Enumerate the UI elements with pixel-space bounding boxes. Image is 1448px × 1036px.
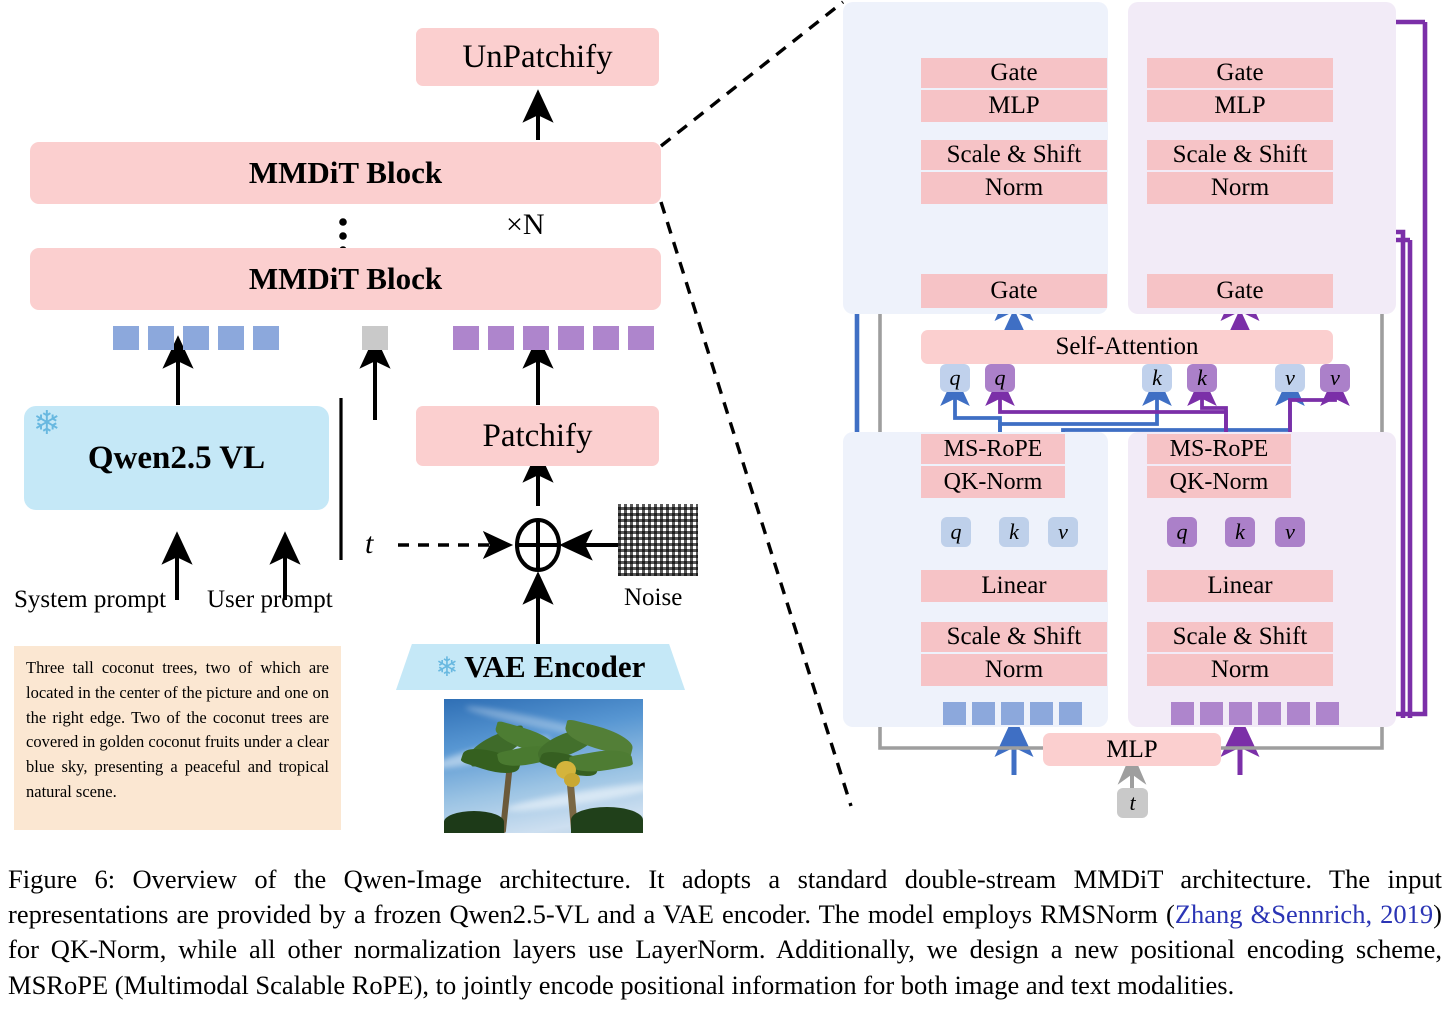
image-gate-attn[interactable]: Gate	[1147, 274, 1333, 308]
figure-canvas: UnPatchify MMDiT Block ×N MMDiT Block Qw…	[0, 0, 1448, 1036]
text-token	[113, 326, 139, 350]
system-prompt-label: System prompt	[14, 586, 166, 614]
user-prompt-label: User prompt	[207, 586, 333, 614]
text-v-chip: v	[1048, 517, 1078, 547]
snowflake-icon-qwen: ❄	[33, 408, 61, 441]
unpatchify-label: UnPatchify	[462, 39, 612, 76]
image-qk-norm[interactable]: QK-Norm	[1147, 466, 1291, 498]
image-token	[1258, 702, 1281, 725]
text-token	[943, 702, 966, 725]
image-token	[523, 326, 549, 350]
text-qk-norm[interactable]: QK-Norm	[921, 466, 1065, 498]
text-ms-rope[interactable]: MS-RoPE	[921, 434, 1065, 464]
image-token	[1316, 702, 1339, 725]
noise-patch-icon	[618, 504, 698, 576]
text-token	[972, 702, 995, 725]
image-token	[558, 326, 584, 350]
image-scale-shift-attn[interactable]: Scale & Shift	[1147, 622, 1333, 652]
joint-q-text-chip: q	[940, 364, 970, 392]
joint-v-image-chip: v	[1320, 364, 1350, 392]
text-token	[1059, 702, 1082, 725]
unpatchify-box[interactable]: UnPatchify	[416, 28, 659, 86]
image-linear[interactable]: Linear	[1147, 570, 1333, 602]
joint-q-image-chip: q	[985, 364, 1015, 392]
image-gate-mlp[interactable]: Gate	[1147, 58, 1333, 88]
timestep-chip: t	[1117, 788, 1148, 818]
patchify-box[interactable]: Patchify	[416, 406, 659, 466]
repeat-n-label: ×N	[506, 208, 545, 242]
qwen25-vl-box[interactable]: Qwen2.5 VL	[24, 406, 329, 510]
image-token	[1171, 702, 1194, 725]
joint-k-text-chip: k	[1142, 364, 1172, 392]
image-ms-rope[interactable]: MS-RoPE	[1147, 434, 1291, 464]
image-k-chip: k	[1225, 517, 1255, 547]
mmdit-block-bottom[interactable]: MMDiT Block	[30, 248, 661, 310]
text-gate-attn[interactable]: Gate	[921, 274, 1107, 308]
qwen-vl-label: Qwen2.5 VL	[88, 440, 265, 477]
text-token	[218, 326, 244, 350]
joint-k-image-chip: k	[1187, 364, 1217, 392]
text-q-chip: q	[941, 517, 971, 547]
image-token	[453, 326, 479, 350]
noise-label: Noise	[624, 584, 682, 612]
input-image-thumbnail	[444, 699, 643, 833]
caption-prefix: Figure 6:	[8, 864, 115, 894]
figure-caption: Figure 6: Overview of the Qwen-Image arc…	[8, 862, 1442, 1003]
text-norm-attn[interactable]: Norm	[921, 654, 1107, 686]
joint-v-text-chip: v	[1275, 364, 1305, 392]
patchify-label: Patchify	[483, 418, 593, 455]
image-token	[1287, 702, 1310, 725]
image-token	[488, 326, 514, 350]
text-mlp[interactable]: MLP	[921, 90, 1107, 122]
self-attention-box[interactable]: Self-Attention	[921, 330, 1333, 364]
image-token	[593, 326, 619, 350]
text-token	[148, 326, 174, 350]
vae-encoder-box[interactable]: ❄ VAE Encoder	[396, 644, 685, 690]
image-token	[1200, 702, 1223, 725]
image-mlp[interactable]: MLP	[1147, 90, 1333, 122]
conditioning-mlp-box[interactable]: MLP	[1043, 733, 1221, 766]
text-gate-mlp[interactable]: Gate	[921, 58, 1107, 88]
text-token	[183, 326, 209, 350]
timestep-token	[362, 326, 388, 350]
image-norm-attn[interactable]: Norm	[1147, 654, 1333, 686]
mmdit-block-bottom-label: MMDiT Block	[249, 261, 442, 297]
image-token	[1229, 702, 1252, 725]
text-token	[1001, 702, 1024, 725]
text-norm-mlp[interactable]: Norm	[921, 172, 1107, 204]
snowflake-icon-vae: ❄	[436, 652, 459, 683]
image-scale-shift-mlp[interactable]: Scale & Shift	[1147, 140, 1333, 170]
image-token	[628, 326, 654, 350]
mmdit-block-top[interactable]: MMDiT Block	[30, 142, 661, 204]
image-v-chip: v	[1275, 517, 1305, 547]
prompt-text-box: Three tall coconut trees, two of which a…	[14, 646, 341, 830]
image-norm-mlp[interactable]: Norm	[1147, 172, 1333, 204]
text-scale-shift-mlp[interactable]: Scale & Shift	[921, 140, 1107, 170]
text-scale-shift-attn[interactable]: Scale & Shift	[921, 622, 1107, 652]
timestep-symbol-label: t	[365, 527, 373, 561]
text-k-chip: k	[999, 517, 1029, 547]
image-q-chip: q	[1167, 517, 1197, 547]
text-token	[253, 326, 279, 350]
text-linear[interactable]: Linear	[921, 570, 1107, 602]
text-token	[1030, 702, 1053, 725]
prompt-text: Three tall coconut trees, two of which a…	[26, 658, 329, 801]
citation-link[interactable]: Zhang &Sennrich, 2019	[1175, 899, 1433, 929]
vae-encoder-label: VAE Encoder	[464, 649, 645, 685]
mmdit-block-top-label: MMDiT Block	[249, 155, 442, 191]
